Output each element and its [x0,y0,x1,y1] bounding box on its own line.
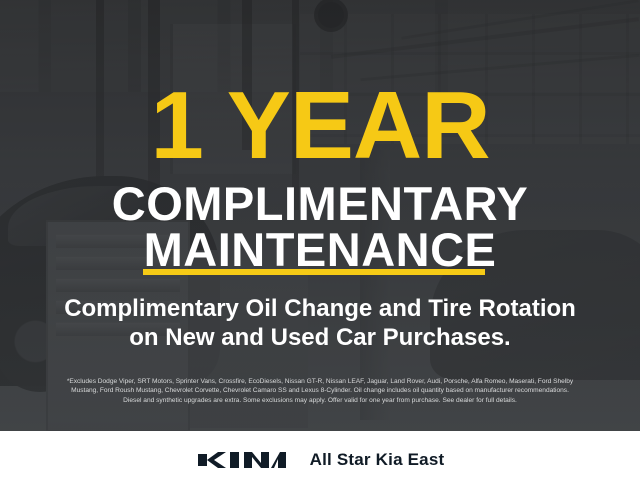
promotional-banner: 1 YEAR COMPLIMENTARY MAINTENANCE Complim… [0,0,640,488]
kia-logo [196,448,288,472]
headline-complimentary: COMPLIMENTARY [0,180,640,227]
offer-description-line-1: Complimentary Oil Change and Tire Rotati… [0,295,640,323]
headline-maintenance: MAINTENANCE [0,226,640,273]
offer-description-line-2: on New and Used Car Purchases. [0,324,640,352]
disclaimer-line-3: Diesel and synthetic upgrades are extra.… [14,396,626,405]
headline-year: 1 YEAR [0,78,640,174]
disclaimer-text: *Excludes Dodge Viper, SRT Motors, Sprin… [14,377,626,405]
banner-footer: All Star Kia East [0,431,640,488]
banner-content: 1 YEAR COMPLIMENTARY MAINTENANCE Complim… [0,0,640,431]
disclaimer-line-2: Mustang, Ford Roush Mustang, Chevrolet C… [14,386,626,395]
dealer-name: All Star Kia East [310,450,445,470]
disclaimer-line-1: *Excludes Dodge Viper, SRT Motors, Sprin… [14,377,626,386]
yellow-divider-rule [143,269,485,275]
